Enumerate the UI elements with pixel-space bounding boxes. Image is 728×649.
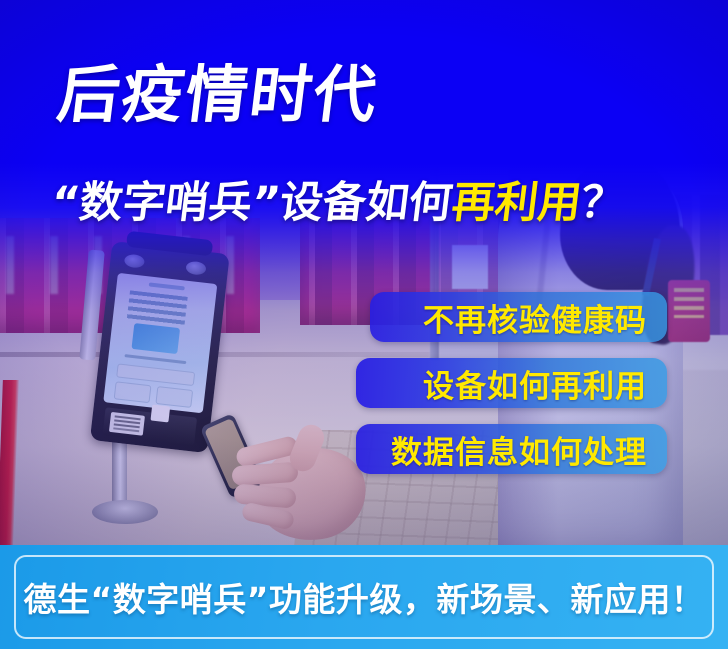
kiosk-reader-label — [109, 412, 145, 436]
bottom-banner: 德生“数字哨兵”功能升级，新场景、新应用！ — [0, 545, 728, 649]
photo-floor-seam — [0, 352, 460, 357]
photo-kiosk-base — [92, 500, 158, 524]
bottom-banner-text: 德生“数字哨兵”功能升级，新场景、新应用！ — [24, 573, 705, 621]
pill-item-2[interactable]: 设备如何再利用 — [356, 358, 667, 408]
kiosk-screen-title — [149, 282, 185, 290]
pill-item-3[interactable]: 数据信息如何处理 — [356, 424, 667, 474]
photo-badge-text — [674, 288, 704, 318]
kiosk-screen — [103, 273, 217, 413]
kiosk-screen-text — [127, 290, 188, 326]
pill-item-1[interactable]: 不再核验健康码 — [370, 292, 667, 342]
kiosk-screen-divider — [124, 354, 186, 364]
kiosk-screen-button-2 — [114, 381, 152, 403]
poster-canvas: 后疫情时代 “数字哨兵”设备如何再利用？ 不再核验健康码 设备如何再利用 数据信… — [0, 0, 728, 649]
kiosk-scan-window — [150, 405, 170, 423]
bottom-banner-frame: 德生“数字哨兵”功能升级，新场景、新应用！ — [14, 555, 714, 639]
kiosk-screen-qr — [131, 323, 180, 354]
photo-door-sign — [452, 245, 488, 289]
hand-finger-3 — [233, 483, 297, 508]
